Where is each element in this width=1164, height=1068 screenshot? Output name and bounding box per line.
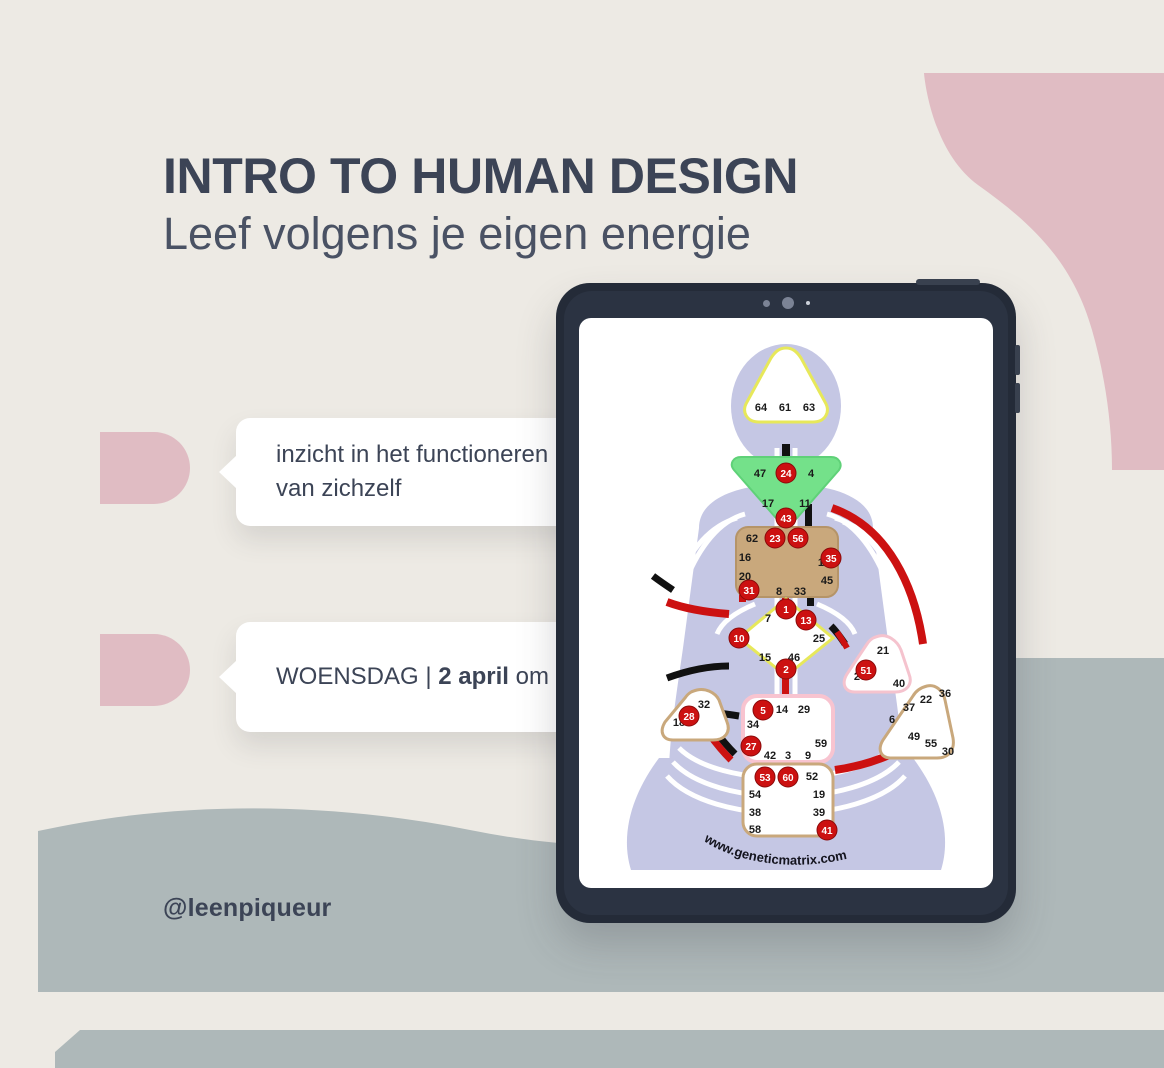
- svg-text:49: 49: [908, 731, 920, 743]
- gray-bottom-band: [55, 1030, 1164, 1068]
- svg-text:15: 15: [759, 652, 771, 664]
- gate-badge-2: 2: [776, 659, 796, 679]
- led-indicator-icon: [806, 301, 810, 305]
- svg-text:61: 61: [779, 402, 791, 414]
- social-handle: @leenpiqueur: [163, 894, 331, 923]
- gate-badge-31: 31: [739, 580, 759, 600]
- gate-badge-23: 23: [765, 528, 785, 548]
- volume-up-button[interactable]: [1015, 345, 1020, 375]
- gate-badge-28: 28: [679, 706, 699, 726]
- svg-text:52: 52: [806, 771, 818, 783]
- svg-text:39: 39: [813, 807, 825, 819]
- svg-text:54: 54: [749, 789, 762, 801]
- svg-text:63: 63: [803, 402, 815, 414]
- svg-text:36: 36: [939, 688, 951, 700]
- gate-badge-51: 51: [856, 660, 876, 680]
- svg-text:59: 59: [815, 738, 827, 750]
- svg-text:53: 53: [759, 773, 771, 784]
- gate-badge-35: 35: [821, 548, 841, 568]
- camera-icon: [782, 297, 794, 309]
- svg-text:11: 11: [799, 498, 811, 510]
- svg-text:29: 29: [798, 704, 810, 716]
- svg-text:27: 27: [745, 742, 757, 753]
- power-button[interactable]: [916, 279, 980, 285]
- svg-text:28: 28: [683, 712, 695, 723]
- svg-text:45: 45: [821, 575, 833, 587]
- bubble-benefit-text: inzicht in het functioneren van zichzelf: [236, 438, 548, 506]
- tablet-device: 64 61 63 47 4 17 11 62 16 20: [556, 283, 1016, 923]
- gate-badge-10: 10: [729, 628, 749, 648]
- datetime-date: 2 april: [438, 663, 509, 690]
- svg-text:64: 64: [755, 402, 768, 414]
- svg-text:17: 17: [762, 498, 774, 510]
- sensor-icon: [763, 300, 770, 307]
- page-title: INTRO TO HUMAN DESIGN: [163, 148, 923, 204]
- pink-accent-tab-2: [100, 634, 190, 706]
- gate-badge-41: 41: [817, 820, 837, 840]
- svg-text:22: 22: [920, 694, 932, 706]
- svg-text:55: 55: [925, 738, 937, 750]
- svg-text:9: 9: [805, 750, 811, 762]
- bubble-tail-icon: [219, 660, 237, 694]
- svg-text:47: 47: [754, 468, 766, 480]
- svg-text:2: 2: [783, 665, 789, 676]
- svg-text:35: 35: [825, 554, 837, 565]
- volume-down-button[interactable]: [1015, 383, 1020, 413]
- svg-text:60: 60: [782, 773, 794, 784]
- svg-text:16: 16: [739, 552, 751, 564]
- svg-text:34: 34: [747, 719, 760, 731]
- svg-text:56: 56: [792, 534, 804, 545]
- svg-text:37: 37: [903, 702, 915, 714]
- svg-text:24: 24: [780, 469, 792, 480]
- svg-text:51: 51: [860, 666, 872, 677]
- human-design-bodygraph: 64 61 63 47 4 17 11 62 16 20: [579, 318, 993, 888]
- svg-text:10: 10: [733, 634, 745, 645]
- gate-badge-60: 60: [778, 767, 798, 787]
- svg-text:32: 32: [698, 699, 710, 711]
- pink-accent-tab-1: [100, 432, 190, 504]
- svg-text:42: 42: [764, 750, 776, 762]
- svg-text:31: 31: [743, 586, 755, 597]
- svg-text:30: 30: [942, 746, 954, 758]
- svg-text:8: 8: [776, 586, 782, 598]
- svg-text:19: 19: [813, 789, 825, 801]
- svg-text:23: 23: [769, 534, 781, 545]
- svg-text:6: 6: [889, 714, 895, 726]
- gate-badge-13: 13: [796, 610, 816, 630]
- gate-badge-5: 5: [753, 700, 773, 720]
- camera-row: [556, 297, 1016, 309]
- svg-text:58: 58: [749, 824, 761, 836]
- poster-canvas: INTRO TO HUMAN DESIGN Leef volgens je ei…: [0, 0, 1164, 1068]
- svg-text:3: 3: [785, 750, 791, 762]
- svg-text:14: 14: [776, 704, 789, 716]
- svg-text:43: 43: [780, 514, 792, 525]
- svg-text:33: 33: [794, 586, 806, 598]
- bubble-tail-icon: [219, 455, 237, 489]
- svg-text:25: 25: [813, 633, 825, 645]
- gate-badge-27: 27: [741, 736, 761, 756]
- gate-badge-1: 1: [776, 599, 796, 619]
- svg-text:21: 21: [877, 645, 889, 657]
- datetime-prefix: WOENSDAG |: [276, 663, 438, 690]
- svg-text:40: 40: [893, 678, 905, 690]
- svg-text:1: 1: [783, 605, 789, 616]
- svg-text:13: 13: [800, 616, 812, 627]
- gate-badge-43: 43: [776, 508, 796, 528]
- gate-badge-24: 24: [776, 463, 796, 483]
- gate-badge-53: 53: [755, 767, 775, 787]
- svg-text:5: 5: [760, 706, 766, 717]
- svg-text:62: 62: [746, 533, 758, 545]
- page-subtitle: Leef volgens je eigen energie: [163, 208, 923, 259]
- svg-text:4: 4: [808, 468, 815, 480]
- svg-text:7: 7: [765, 613, 771, 625]
- svg-text:41: 41: [821, 826, 833, 837]
- tablet-screen: 64 61 63 47 4 17 11 62 16 20: [579, 318, 993, 888]
- heading-block: INTRO TO HUMAN DESIGN Leef volgens je ei…: [163, 148, 923, 259]
- gate-badge-56: 56: [788, 528, 808, 548]
- svg-text:38: 38: [749, 807, 761, 819]
